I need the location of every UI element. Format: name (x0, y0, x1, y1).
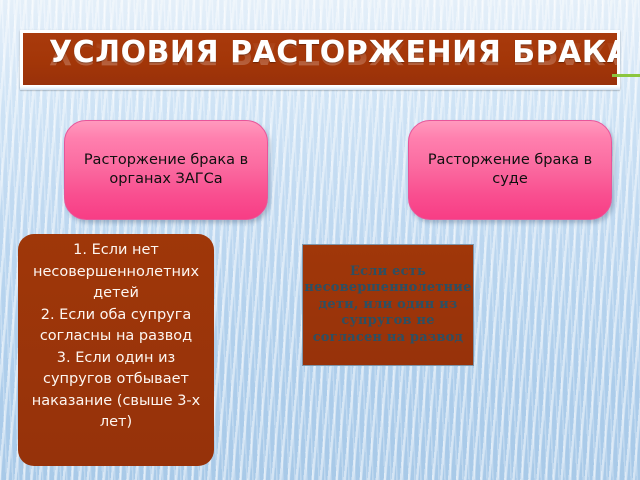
green-marker-line (612, 74, 640, 77)
card-registry-office-conditions[interactable]: 1. Если нет несовершеннолетних детей 2. … (18, 234, 214, 466)
card-divorce-registry-office[interactable]: Расторжение брака в органах ЗАГСа (64, 120, 268, 220)
slide-title-bar: Условия расторжения брака Условия растор… (23, 33, 617, 85)
title-underline-divider (20, 86, 620, 90)
page-title: Условия расторжения брака (49, 36, 617, 70)
card-divorce-court[interactable]: Расторжение брака в суде (408, 120, 612, 220)
card-registry-office-conditions-label: 1. Если нет несовершеннолетних детей 2. … (24, 240, 208, 434)
slide-canvas: Условия расторжения брака Условия растор… (0, 0, 640, 480)
card-court-conditions-label: Если есть несовершеннолетние дети, или о… (304, 264, 471, 347)
card-divorce-registry-office-label: Расторжение брака в органах ЗАГСа (79, 151, 253, 189)
card-divorce-court-label: Расторжение брака в суде (423, 151, 597, 189)
slide-title-banner: Условия расторжения брака Условия растор… (20, 30, 620, 88)
card-court-conditions[interactable]: Если есть несовершеннолетние дети, или о… (302, 244, 474, 366)
